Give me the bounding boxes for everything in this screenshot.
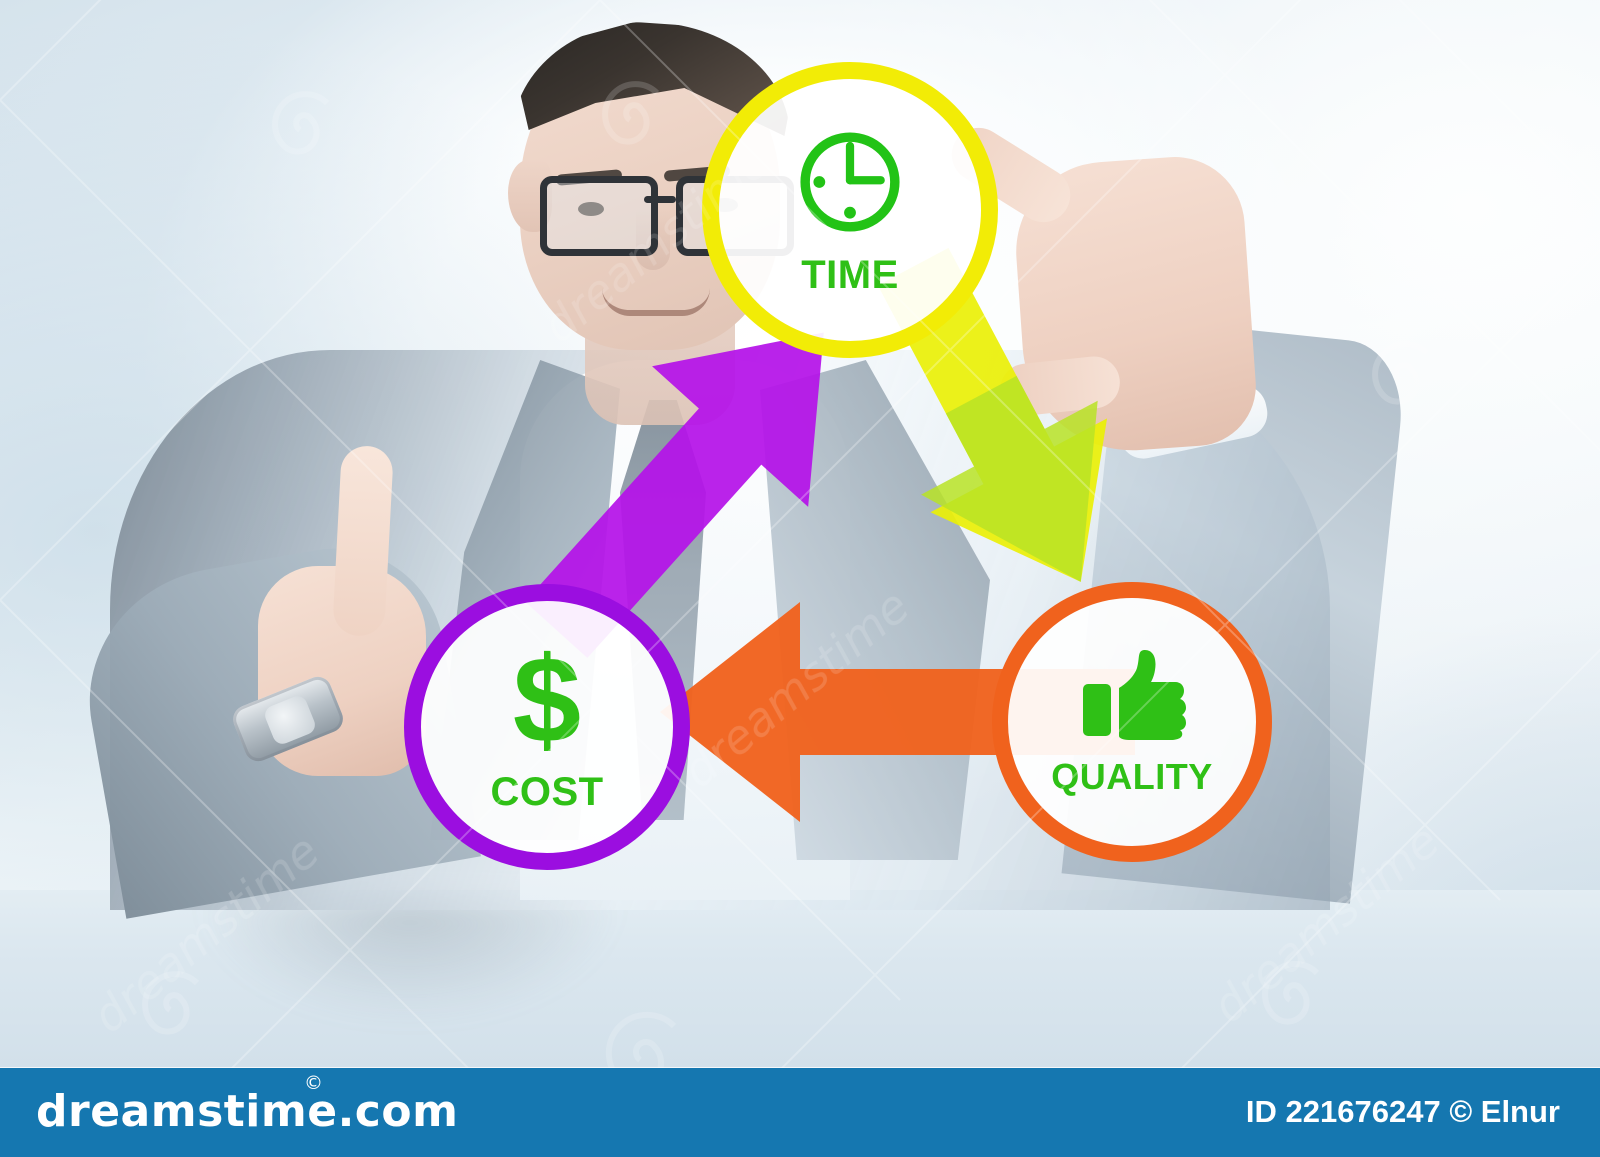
clock-icon — [791, 123, 909, 245]
image-credit: ID 221676247 © Elnur — [1246, 1094, 1560, 1130]
registered-mark-icon: © — [304, 1072, 324, 1094]
stock-photo-canvas: TIME $ COST QUALITY — [0, 0, 1600, 1157]
dreamstime-logo-text: dreamstime.com — [36, 1086, 458, 1137]
node-time-label: TIME — [801, 253, 899, 298]
dreamstime-logo[interactable]: dreamstime.com © — [36, 1086, 458, 1137]
node-time[interactable]: TIME — [702, 62, 998, 358]
node-quality[interactable]: QUALITY — [992, 582, 1272, 862]
node-cost-label: COST — [490, 770, 603, 815]
svg-text:$: $ — [513, 640, 581, 760]
footer-bar: dreamstime.com © ID 221676247 © Elnur — [0, 1068, 1600, 1157]
thumbs-up-icon — [1077, 646, 1187, 750]
dollar-sign-icon: $ — [499, 640, 595, 764]
node-cost[interactable]: $ COST — [404, 584, 690, 870]
node-quality-label: QUALITY — [1051, 756, 1213, 798]
